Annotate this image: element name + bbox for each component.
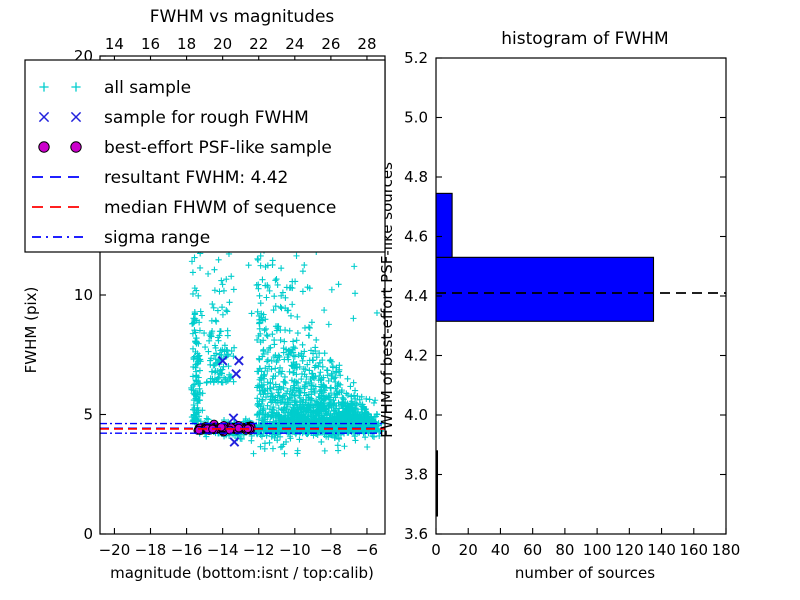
- histogram-x-tick-label: 0: [431, 541, 441, 559]
- legend-item-label: median FHWM of sequence: [104, 198, 336, 218]
- scatter-xlabel: magnitude (bottom:isnt / top:calib): [110, 564, 374, 582]
- legend-item-label: sample for rough FWHM: [104, 108, 309, 128]
- histogram-y-tick-label: 3.8: [404, 466, 428, 484]
- histogram-y-tick-label: 5.2: [404, 49, 428, 67]
- scatter-x-tick-label: −10: [279, 541, 311, 559]
- scatter-x-tick-label: −14: [207, 541, 239, 559]
- legend-item-label: resultant FWHM: 4.42: [104, 168, 288, 188]
- scatter-top-tick-label: 14: [105, 35, 124, 53]
- histogram-y-tick-label: 4.6: [404, 228, 428, 246]
- histogram-bar: [436, 193, 452, 257]
- histogram-title: histogram of FWHM: [501, 29, 668, 49]
- histogram-y-tick-label: 3.6: [404, 525, 428, 543]
- scatter-ylabel: FWHM (pix): [22, 287, 40, 374]
- histogram-y-tick-label: 4.8: [404, 168, 428, 186]
- histogram-x-tick-label: 60: [523, 541, 542, 559]
- histogram-x-tick-label: 120: [615, 541, 644, 559]
- histogram-bar: [436, 257, 654, 321]
- scatter-top-tick-label: 24: [285, 35, 304, 53]
- scatter-x-tick-label: −12: [243, 541, 275, 559]
- scatter-top-tick-label: 22: [249, 35, 268, 53]
- scatter-y-tick-label: 10: [74, 286, 93, 304]
- scatter-y-tick-label: 0: [83, 525, 93, 543]
- legend-item-label: all sample: [104, 78, 191, 98]
- scatter-x-tick-label: −8: [320, 541, 342, 559]
- histogram-y-tick-label: 4.2: [404, 347, 428, 365]
- scatter-top-tick-label: 18: [177, 35, 196, 53]
- scatter-x-tick-label: −16: [171, 541, 203, 559]
- legend: all samplesample for rough FWHMbest-effo…: [25, 60, 385, 252]
- scatter-x-tick-label: −6: [356, 541, 378, 559]
- scatter-top-tick-label: 16: [141, 35, 160, 53]
- histogram-x-tick-label: 180: [712, 541, 741, 559]
- histogram-x-tick-label: 140: [647, 541, 676, 559]
- histogram-x-tick-label: 80: [555, 541, 574, 559]
- scatter-y-tick-label: 5: [83, 406, 93, 424]
- histogram-xlabel: number of sources: [515, 564, 655, 582]
- scatter-x-tick-label: −18: [135, 541, 167, 559]
- scatter-x-tick-label: −20: [99, 541, 131, 559]
- figure-canvas: FWHM vs magnitudes −20−18−16−14−12−10−8−…: [0, 0, 800, 600]
- matplotlib-figure: FWHM vs magnitudes −20−18−16−14−12−10−8−…: [0, 0, 800, 600]
- legend-item-label: best-effort PSF-like sample: [104, 138, 332, 158]
- histogram-x-tick-label: 100: [583, 541, 612, 559]
- scatter-top-tick-label: 28: [357, 35, 376, 53]
- histogram-x-tick-label: 40: [491, 541, 510, 559]
- histogram-x-tick-label: 20: [459, 541, 478, 559]
- histogram-y-tick-label: 4.0: [404, 406, 428, 424]
- scatter-top-tick-label: 20: [213, 35, 232, 53]
- histogram-y-tick-label: 5.0: [404, 109, 428, 127]
- legend-item-label: sigma range: [104, 228, 210, 248]
- histogram-y-tick-label: 4.4: [404, 287, 428, 305]
- scatter-top-tick-label: 26: [321, 35, 340, 53]
- histogram-x-tick-label: 160: [679, 541, 708, 559]
- scatter-title: FWHM vs magnitudes: [150, 7, 335, 27]
